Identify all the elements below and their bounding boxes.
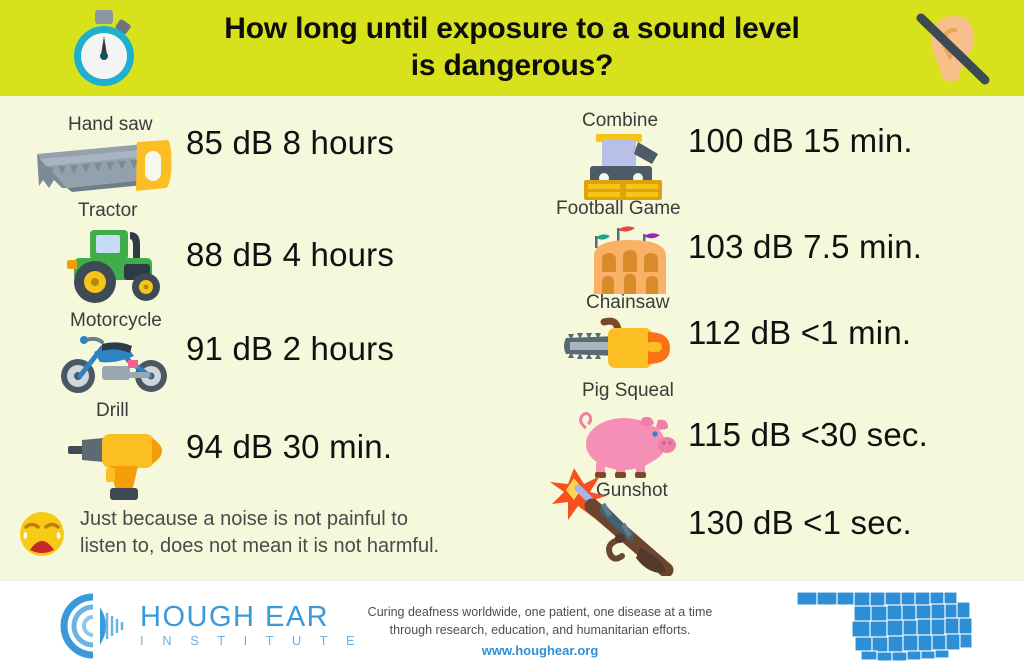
page-title-line2: is dangerous? [224,48,799,85]
row-label: Combine [582,110,658,132]
note-line1: Just because a noise is not painful to [80,506,439,533]
tagline-line2: through research, education, and humanit… [330,621,750,639]
row-combine: Combine 100 dB 15 min. [512,104,1024,194]
row-label: Tractor [78,200,137,222]
page-title-line1: How long until exposure to a sound level [224,11,799,48]
right-column: Combine 100 dB 15 min. Football Game [512,96,1024,576]
footer-tagline: Curing deafness worldwide, one patient, … [330,603,750,639]
left-column: Hand saw 85 dB 8 hours Tractor [0,96,512,576]
infographic-poster: How long until exposure to a sound level… [0,0,1024,670]
hough-ear-institute-logo[interactable]: HOUGH EAR I N S T I T U T E [60,593,362,659]
row-value: 88 dB 4 hours [186,236,394,274]
row-value: 91 dB 2 hours [186,330,394,368]
handsaw-icon [32,136,174,198]
note-text: Just because a noise is not painful to l… [80,506,439,560]
row-football-game: Football Game 103 dB 7.5 min. [512,194,1024,294]
row-tractor: Tractor 88 dB 4 hours [0,200,512,300]
row-label: Pig Squeal [582,380,674,402]
row-gunshot: Gunshot 130 dB <1 sec. [512,466,1024,576]
row-value: 115 dB <30 sec. [688,416,928,454]
row-value: 100 dB 15 min. [688,122,913,160]
row-value: 85 dB 8 hours [186,124,394,162]
rifle-icon [544,466,694,576]
cochlea-logo-icon [60,593,130,659]
logo-sub-text: I N S T I T U T E [140,632,362,650]
weary-face-icon [18,510,66,558]
stopwatch-icon [62,8,146,88]
row-value: 112 dB <1 min. [688,314,911,352]
tagline-line1: Curing deafness worldwide, one patient, … [330,603,750,621]
row-chainsaw: Chainsaw 112 dB <1 min. [512,292,1024,382]
tractor-icon [62,224,172,304]
row-drill: Drill 94 dB 30 min. [0,398,512,498]
row-label: Motorcycle [70,310,162,332]
no-hearing-ear-icon [910,8,996,90]
row-label: Drill [96,400,129,422]
logo-main-text: HOUGH EAR [140,602,362,632]
chainsaw-icon [560,314,688,376]
stadium-icon [582,220,680,298]
oklahoma-county-map [795,588,1005,664]
row-label: Chainsaw [586,292,669,314]
row-value: 130 dB <1 sec. [688,504,912,542]
motorcycle-icon [58,332,170,394]
note-callout: Just because a noise is not painful to l… [18,506,518,560]
row-hand-saw: Hand saw 85 dB 8 hours [0,104,512,194]
row-value: 94 dB 30 min. [186,428,392,466]
row-value: 103 dB 7.5 min. [688,228,922,266]
row-pig-squeal: Pig Squeal 115 dB <30 sec. [512,380,1024,480]
row-motorcycle: Motorcycle 91 dB 2 hours [0,304,512,404]
header-band: How long until exposure to a sound level… [0,0,1024,96]
note-line2: listen to, does not mean it is not harmf… [80,533,439,560]
website-link[interactable]: www.houghear.org [330,643,750,658]
page-title: How long until exposure to a sound level… [224,11,799,84]
row-label: Football Game [556,198,681,220]
drill-icon [66,424,176,502]
row-label: Hand saw [68,114,153,136]
